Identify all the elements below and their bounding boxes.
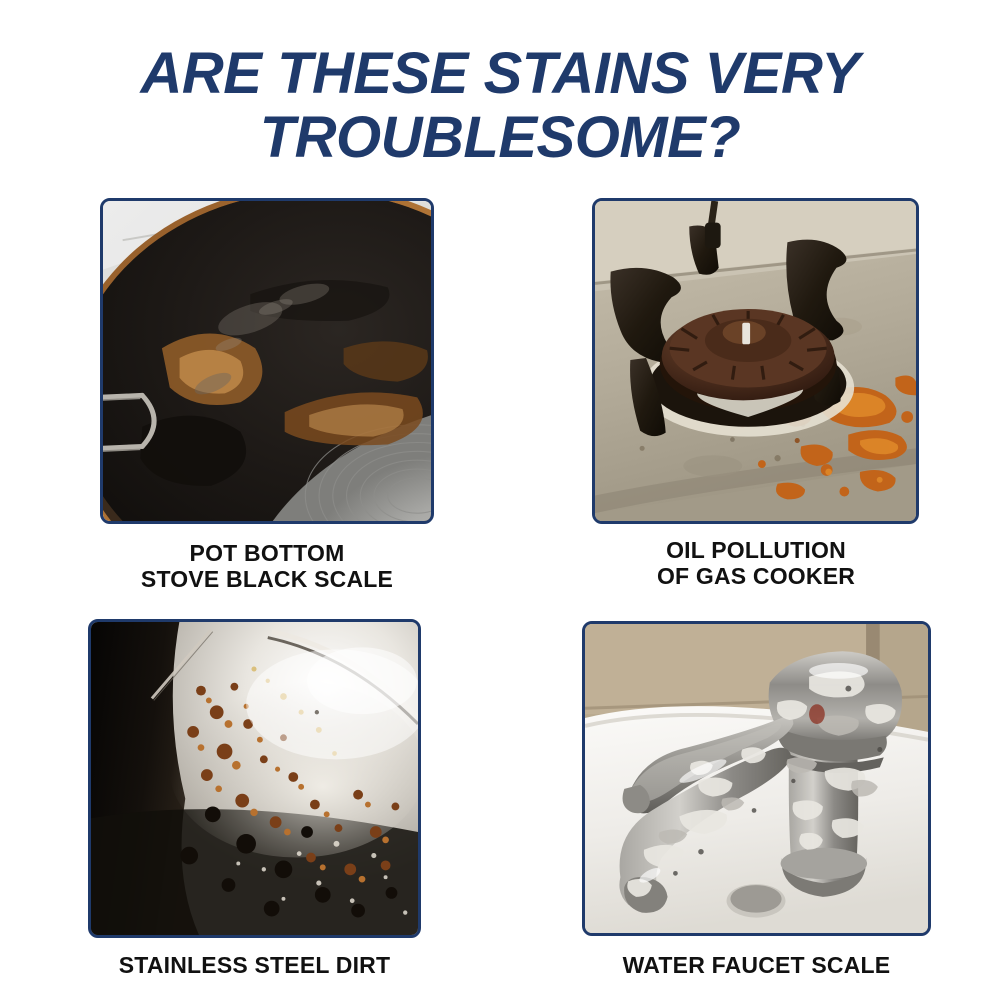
stainless-steel-illustration	[91, 622, 418, 935]
photo-water-faucet	[585, 624, 928, 933]
caption-stainless-steel: STAINLESS STEEL DIRT	[88, 952, 421, 978]
photo-pot-bottom	[103, 201, 431, 521]
image-panel-stainless-steel	[88, 619, 421, 938]
photo-stainless-steel	[91, 622, 418, 935]
caption-gas-cooker: OIL POLLUTION OF GAS COOKER	[580, 537, 932, 589]
caption-pot-bottom: POT BOTTOM STOVE BLACK SCALE	[90, 540, 444, 592]
gas-cooker-illustration	[595, 201, 916, 521]
pot-bottom-illustration	[103, 201, 431, 521]
water-faucet-illustration	[585, 624, 928, 933]
page-title: ARE THESE STAINS VERY TROUBLESOME?	[0, 42, 1000, 170]
image-panel-pot-bottom	[100, 198, 434, 524]
caption-water-faucet: WATER FAUCET SCALE	[582, 952, 931, 978]
image-panel-gas-cooker	[592, 198, 919, 524]
photo-gas-cooker	[595, 201, 916, 521]
image-panel-water-faucet	[582, 621, 931, 936]
